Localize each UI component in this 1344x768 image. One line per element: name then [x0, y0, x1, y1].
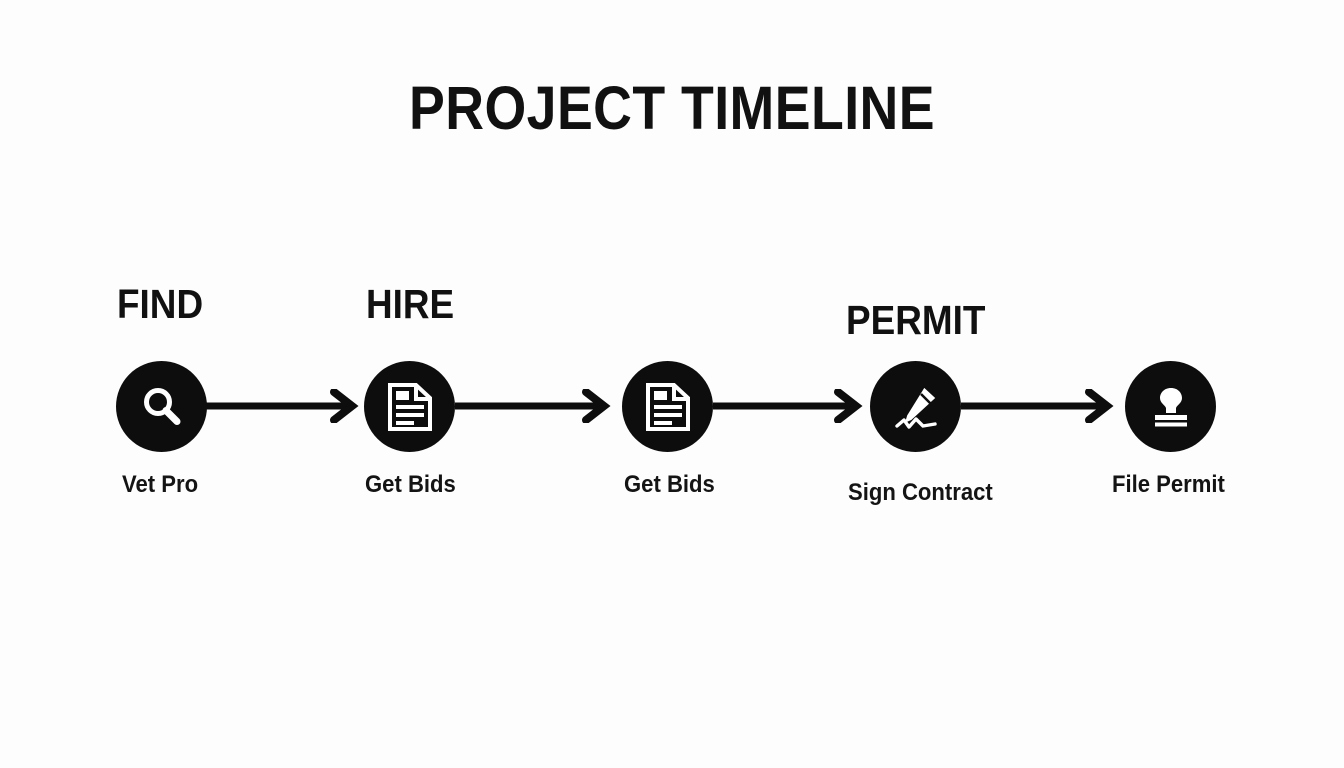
- timeline-caption-get-bids-1: Get Bids: [365, 473, 456, 497]
- stage-heading-permit: PERMIT: [846, 300, 985, 341]
- timeline-node-sign-contract[interactable]: [870, 361, 961, 452]
- timeline-caption-sign-contract: Sign Contract: [848, 481, 993, 505]
- document-icon: [644, 382, 692, 432]
- timeline-node-file-permit[interactable]: [1125, 361, 1216, 452]
- slide-canvas: PROJECT TIMELINE FIND Vet Pro HIRE: [0, 0, 1344, 768]
- timeline-caption-file-permit: File Permit: [1112, 473, 1225, 497]
- timeline-caption-get-bids-2: Get Bids: [624, 473, 715, 497]
- timeline-node-get-bids-2[interactable]: [622, 361, 713, 452]
- timeline-node-get-bids-1[interactable]: [364, 361, 455, 452]
- document-icon: [386, 382, 434, 432]
- timeline-caption-vet-pro: Vet Pro: [122, 473, 198, 497]
- timeline-connector-1: [206, 389, 369, 423]
- stage-heading-hire: HIRE: [366, 284, 454, 325]
- timeline-connector-4: [961, 389, 1124, 423]
- stage-heading-find: FIND: [117, 284, 203, 325]
- pen-signature-icon: [890, 381, 942, 433]
- timeline-connector-2: [455, 389, 621, 423]
- timeline-node-vet-pro[interactable]: [116, 361, 207, 452]
- magnifying-glass-icon: [137, 382, 187, 432]
- timeline-connector-3: [713, 389, 873, 423]
- rubber-stamp-icon: [1146, 382, 1196, 432]
- project-timeline-diagram: FIND Vet Pro HIRE: [0, 0, 1344, 768]
